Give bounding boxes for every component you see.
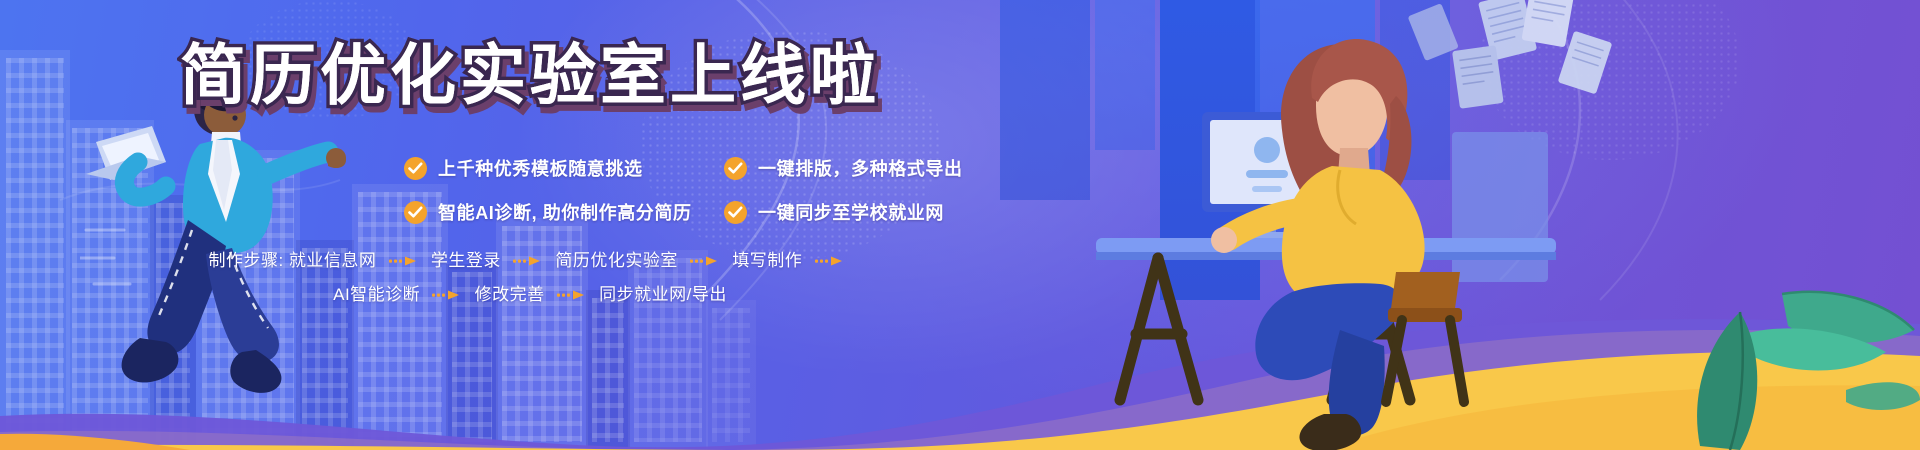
- plant-leaves: [1697, 292, 1920, 450]
- steps-row-2: AI智能诊断 修改完善 同步就业网/导出: [0, 278, 1060, 312]
- page-title: 简历优化实验室上线啦: [0, 42, 1060, 108]
- step-label: 学生登录: [431, 251, 501, 270]
- dotted-arrow-icon: [389, 245, 419, 278]
- step-label: 简历优化实验室: [555, 251, 678, 270]
- floating-documents: [1408, 0, 1613, 109]
- feature-item: 一键同步至学校就业网: [724, 190, 1004, 234]
- feature-label: 一键排版，多种格式导出: [758, 155, 963, 181]
- step-label: 填写制作: [732, 251, 802, 270]
- feature-item: 上千种优秀模板随意挑选: [404, 146, 724, 190]
- steps-intro: 制作步骤: 就业信息网: [208, 251, 376, 270]
- feature-label: 一键同步至学校就业网: [758, 199, 944, 225]
- feature-label: 上千种优秀模板随意挑选: [438, 155, 643, 181]
- check-circle-icon: [724, 157, 747, 180]
- step-label: AI智能诊断: [333, 285, 420, 304]
- check-circle-icon: [404, 157, 427, 180]
- feature-list: 上千种优秀模板随意挑选 一键排版，多种格式导出 智能AI诊断, 助你制作高分简历…: [404, 146, 1004, 234]
- feature-item: 一键排版，多种格式导出: [724, 146, 1004, 190]
- check-circle-icon: [404, 201, 427, 224]
- feature-label: 智能AI诊断, 助你制作高分简历: [438, 199, 692, 225]
- promo-banner: 简历优化实验室上线啦 简历优化实验室上线啦 上千种优秀模板随意挑选 一键排版，多…: [0, 0, 1920, 450]
- dotted-arrow-icon: [815, 245, 845, 278]
- steps-flow: 制作步骤: 就业信息网 学生登录 简历优化实验室 填写制作 AI智能诊断: [0, 244, 1060, 312]
- check-circle-icon: [724, 201, 747, 224]
- office-chair: [1386, 272, 1464, 402]
- banner-content: 简历优化实验室上线啦 简历优化实验室上线啦 上千种优秀模板随意挑选 一键排版，多…: [0, 0, 1060, 450]
- feature-item: 智能AI诊断, 助你制作高分简历: [404, 190, 724, 234]
- step-label: 同步就业网/导出: [599, 285, 727, 304]
- dotted-arrow-icon: [513, 245, 543, 278]
- dotted-arrow-icon: [432, 279, 462, 312]
- woman-at-desk-illustration: [1040, 0, 1920, 450]
- steps-row-1: 制作步骤: 就业信息网 学生登录 简历优化实验室 填写制作: [0, 244, 1060, 278]
- dotted-arrow-icon: [690, 245, 720, 278]
- step-label: 修改完善: [475, 285, 545, 304]
- dotted-arrow-icon: [557, 279, 587, 312]
